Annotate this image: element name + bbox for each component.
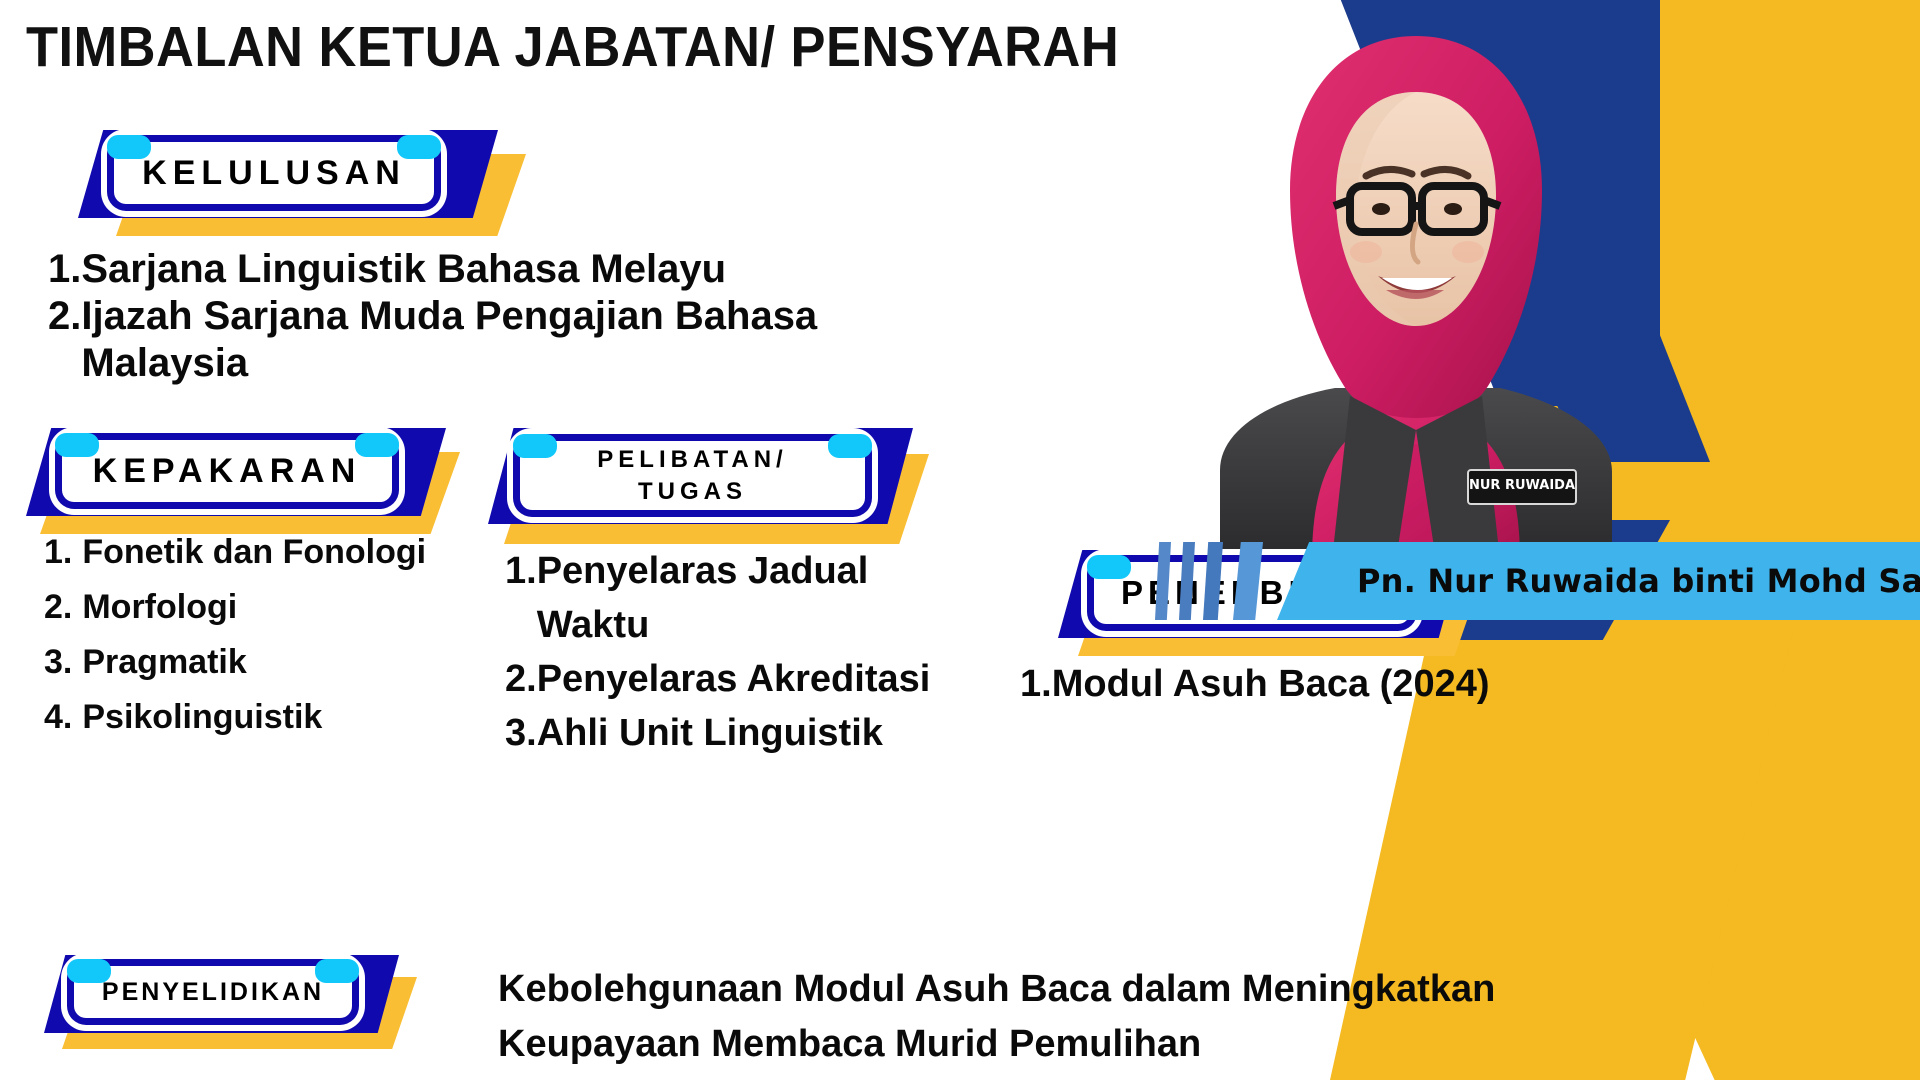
badge-pelibatan-inner: PELIBATAN/ TUGAS — [520, 441, 865, 510]
list-item-number: 2. — [48, 293, 81, 340]
list-item-number: 1. — [48, 246, 81, 293]
person-name: Pn. Nur Ruwaida binti Mohd Saad — [1357, 562, 1920, 600]
list-item-number: 1. — [505, 545, 537, 599]
badge-kelulusan-label: KELULUSAN — [142, 154, 406, 193]
name-banner-band: Pn. Nur Ruwaida binti Mohd Saad — [1277, 542, 1920, 620]
list-item-text: Sarjana Linguistik Bahasa Melayu — [81, 246, 726, 293]
list-penerbitan: 1. Modul Asuh Baca (2024) — [1020, 660, 1580, 709]
name-banner: Pn. Nur Ruwaida binti Mohd Saad — [1155, 542, 1920, 620]
list-item: 4. Psikolinguistik — [44, 690, 514, 745]
list-item-text: Penyelaras Akreditasi — [537, 653, 931, 707]
penyelidikan-line-1: Kebolehgunaan Modul Asuh Baca dalam Meni… — [498, 962, 1638, 1017]
list-item: 1. Penyelaras Jadual Waktu — [505, 545, 985, 653]
list-item: 2. Ijazah Sarjana Muda Pengajian Bahasa … — [48, 293, 948, 387]
list-item: 1. Modul Asuh Baca (2024) — [1020, 660, 1580, 709]
name-banner-stripe — [1203, 542, 1223, 620]
name-banner-stripes — [1155, 542, 1290, 620]
list-item: 2. Morfologi — [44, 580, 514, 635]
list-item-number: 4. — [44, 690, 72, 745]
list-item-number: 2. — [44, 580, 72, 635]
badge-penyelidikan-inner: PENYELIDIKAN — [74, 966, 352, 1018]
list-item-number: 3. — [44, 635, 72, 690]
list-item-text: Morfologi — [82, 580, 237, 635]
list-item-text: Modul Asuh Baca (2024) — [1052, 660, 1490, 709]
list-item-text: Ijazah Sarjana Muda Pengajian Bahasa Mal… — [81, 293, 948, 387]
list-item: 2. Penyelaras Akreditasi — [505, 653, 985, 707]
list-item-number: 1. — [44, 525, 72, 580]
page-title: TIMBALAN KETUA JABATAN/ PENSYARAH — [26, 18, 1119, 78]
list-item-text: Psikolinguistik — [82, 690, 322, 745]
list-item: 1. Sarjana Linguistik Bahasa Melayu — [48, 246, 948, 293]
badge-penyelidikan-label: PENYELIDIKAN — [102, 978, 324, 1007]
list-item: 1. Fonetik dan Fonologi — [44, 525, 514, 580]
badge-pelibatan-tugas: PELIBATAN/ TUGAS — [488, 428, 948, 548]
badge-kelulusan-inner: KELULUSAN — [114, 142, 434, 204]
list-item: 3. Pragmatik — [44, 635, 514, 690]
badge-kelulusan: KELULUSAN — [78, 130, 538, 235]
list-item-text: Fonetik dan Fonologi — [82, 525, 426, 580]
text-penyelidikan: Kebolehgunaan Modul Asuh Baca dalam Meni… — [498, 962, 1638, 1072]
badge-kepakaran-inner: KEPAKARAN — [62, 440, 392, 502]
list-item-number: 1. — [1020, 660, 1052, 709]
poster-canvas: NUR RUWAIDA TIMBALAN KETUA JABATAN/ PENS… — [0, 0, 1920, 1080]
list-pelibatan: 1. Penyelaras Jadual Waktu 2. Penyelaras… — [505, 545, 985, 761]
list-item-number: 3. — [505, 707, 537, 761]
portrait-name-tag-text: NUR RUWAIDA — [1469, 478, 1575, 493]
list-item-text: Penyelaras Jadual Waktu — [537, 545, 985, 653]
badge-penyelidikan: PENYELIDIKAN — [44, 955, 444, 1050]
list-item-number: 2. — [505, 653, 537, 707]
list-item-text: Pragmatik — [82, 635, 246, 690]
portrait-photo: NUR RUWAIDA — [1200, 0, 1630, 560]
badge-kepakaran: KEPAKARAN — [26, 428, 486, 533]
badge-kepakaran-label: KEPAKARAN — [93, 452, 362, 491]
name-banner-stripe — [1233, 542, 1263, 620]
penyelidikan-line-2: Keupayaan Membaca Murid Pemulihan — [498, 1017, 1638, 1072]
list-item-text: Ahli Unit Linguistik — [537, 707, 883, 761]
name-banner-stripe — [1179, 542, 1195, 620]
badge-pelibatan-label: PELIBATAN/ TUGAS — [597, 444, 787, 506]
list-item: 3. Ahli Unit Linguistik — [505, 707, 985, 761]
name-banner-stripe — [1155, 542, 1171, 620]
list-kepakaran: 1. Fonetik dan Fonologi 2. Morfologi 3. … — [44, 525, 514, 745]
list-kelulusan: 1. Sarjana Linguistik Bahasa Melayu 2. I… — [48, 246, 948, 388]
